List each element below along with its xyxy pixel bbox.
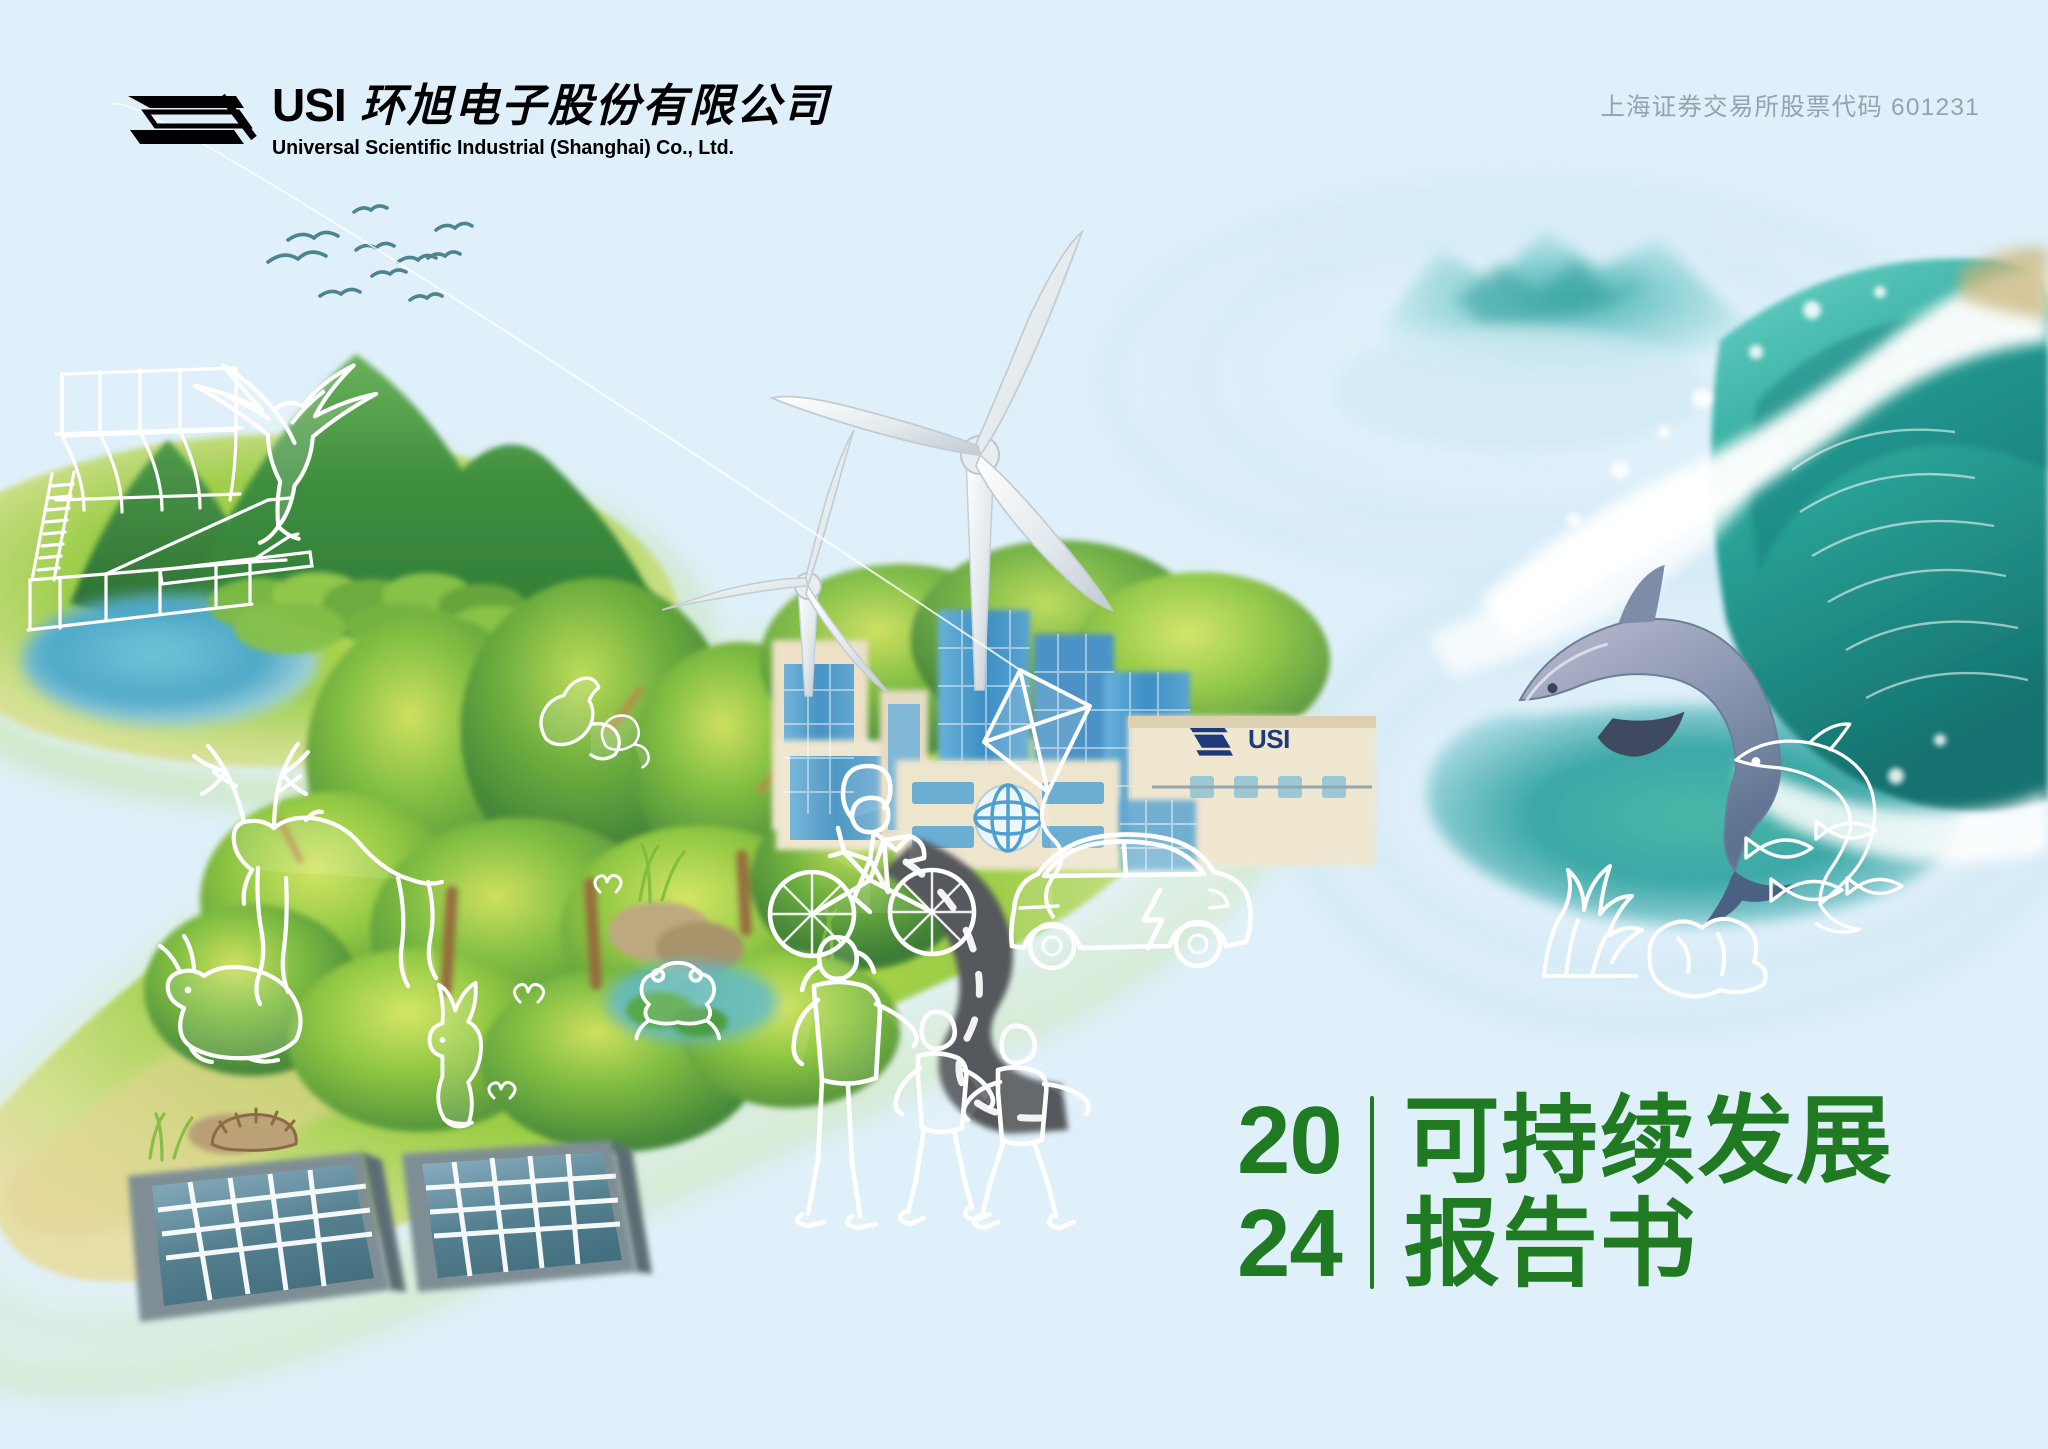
- company-name-cn: 环旭电子股份有限公司: [360, 82, 830, 131]
- report-title-cn: 可持续发展 报告书: [1404, 1090, 1894, 1295]
- title-line-1: 可持续发展: [1404, 1090, 1894, 1193]
- globe-window: [975, 785, 1041, 851]
- report-cover-page: USI: [0, 0, 2048, 1449]
- factory-logo-text: USI: [1248, 724, 1290, 754]
- report-year: 20 24: [1237, 1090, 1342, 1295]
- company-name-en: Universal Scientific Industrial (Shangha…: [272, 136, 807, 160]
- title-line-2: 报告书: [1404, 1193, 1894, 1296]
- solar-panel-right: [402, 1140, 652, 1292]
- year-bottom: 24: [1237, 1193, 1342, 1296]
- year-top: 20: [1237, 1090, 1342, 1193]
- usi-wordmark: USI: [272, 82, 346, 128]
- stock-code-label: 上海证券交易所股票代码 601231: [1600, 88, 1980, 123]
- usi-logo-mark: [126, 86, 258, 148]
- page-header: USI 环旭电子股份有限公司 Universal Scientific Indu…: [0, 0, 2048, 180]
- usi-logo[interactable]: USI 环旭电子股份有限公司 Universal Scientific Indu…: [126, 82, 830, 160]
- report-title-block: 20 24 可持续发展 报告书: [1237, 1090, 1894, 1295]
- title-divider: [1370, 1096, 1374, 1289]
